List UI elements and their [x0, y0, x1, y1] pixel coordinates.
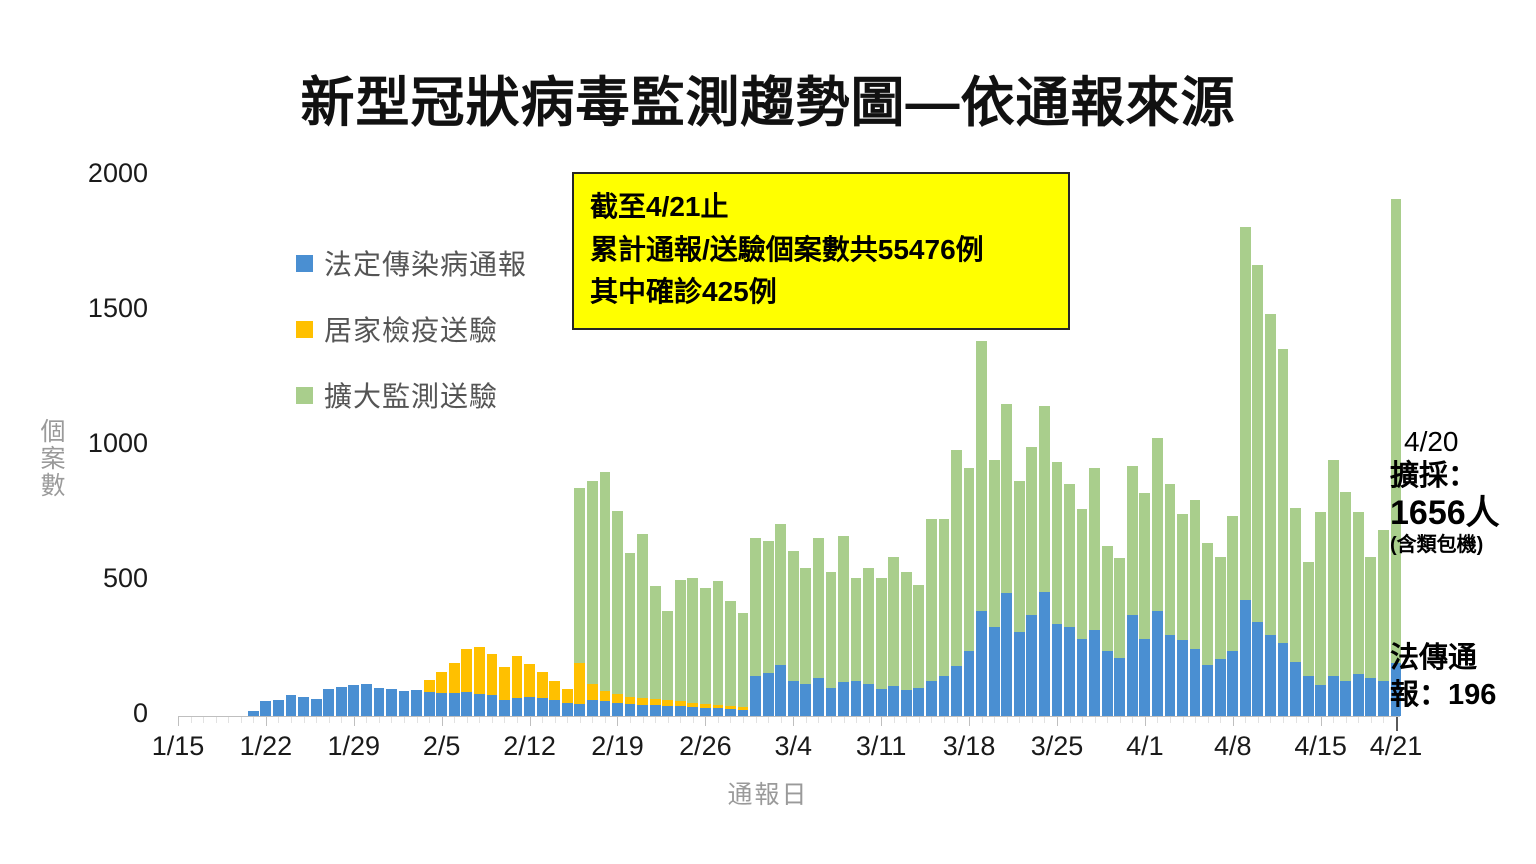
- x-axis-minor-tick: [1032, 717, 1033, 723]
- bar-segment-blue: [399, 691, 410, 716]
- x-axis-minor-tick: [580, 717, 581, 723]
- x-axis-minor-tick: [730, 717, 731, 723]
- bar-stack: [1265, 314, 1276, 716]
- bar-stack: [813, 538, 824, 716]
- bar-segment-green: [888, 557, 899, 687]
- bar-segment-blue: [725, 709, 736, 716]
- bar-segment-yellow: [474, 647, 485, 694]
- bar-stack: [286, 695, 297, 716]
- bar-stack: [348, 685, 359, 716]
- bar-segment-blue: [1353, 674, 1364, 716]
- x-axis-minor-tick: [1220, 717, 1221, 723]
- bar-segment-blue: [913, 688, 924, 716]
- bar-stack: [1127, 466, 1138, 716]
- legend-label-2: 擴大監測送驗: [324, 375, 498, 415]
- y-axis-tick-label: 0: [133, 698, 148, 729]
- bar-stack: [1165, 484, 1176, 716]
- bar-segment-blue: [687, 707, 698, 716]
- bar-segment-green: [725, 601, 736, 706]
- bar-stack: [976, 341, 987, 716]
- x-axis-minor-tick: [454, 717, 455, 723]
- annotation-statutory-reporting: 法傳通報：196: [1390, 640, 1536, 714]
- bar-stack: [537, 672, 548, 716]
- bar-segment-blue: [1014, 632, 1025, 716]
- bar-stack: [1290, 508, 1301, 716]
- bar-segment-green: [1026, 447, 1037, 614]
- x-axis-tick-label: 1/15: [152, 731, 205, 762]
- x-axis-minor-tick: [366, 717, 367, 723]
- bar-stack: [1190, 500, 1201, 716]
- bar-segment-blue: [838, 682, 849, 716]
- bar-segment-green: [650, 586, 661, 699]
- bar-stack: [574, 488, 585, 716]
- x-axis-minor-tick: [291, 717, 292, 723]
- bar-segment-blue: [361, 684, 372, 716]
- bar-stack: [386, 689, 397, 716]
- x-axis-minor-tick: [1371, 717, 1372, 723]
- legend-label-1: 居家檢疫送驗: [324, 309, 498, 349]
- bar-stack: [675, 580, 686, 716]
- bar-segment-blue: [348, 685, 359, 716]
- bar-segment-yellow: [512, 656, 523, 698]
- bar-segment-blue: [1127, 615, 1138, 716]
- bar-segment-green: [1365, 557, 1376, 679]
- bar-segment-green: [1077, 509, 1088, 639]
- x-axis-tick-label: 2/19: [591, 731, 644, 762]
- bar-segment-green: [813, 538, 824, 678]
- bar-stack: [713, 581, 724, 716]
- bar-segment-yellow: [449, 663, 460, 693]
- y-axis-tick-label: 1000: [88, 428, 148, 459]
- bar-segment-green: [976, 341, 987, 611]
- bar-segment-blue: [336, 687, 347, 716]
- x-axis-title: 通報日: [0, 775, 1536, 811]
- x-axis-minor-tick: [278, 717, 279, 723]
- bar-segment-blue: [411, 690, 422, 716]
- bar-stack: [1378, 530, 1389, 716]
- bar-segment-blue: [461, 692, 472, 716]
- bar-stack: [687, 578, 698, 716]
- bar-segment-blue: [1240, 600, 1251, 716]
- bar-stack: [1202, 543, 1213, 716]
- bar-segment-blue: [901, 690, 912, 716]
- bar-segment-blue: [888, 686, 899, 716]
- bar-segment-blue: [562, 703, 573, 717]
- bar-segment-green: [826, 572, 837, 688]
- bar-stack: [1114, 558, 1125, 716]
- x-axis-minor-tick: [329, 717, 330, 723]
- x-axis-minor-tick: [467, 717, 468, 723]
- bar-segment-green: [1202, 543, 1213, 665]
- bar-stack: [474, 647, 485, 716]
- bar-stack: [1215, 557, 1226, 716]
- x-axis-minor-tick: [1095, 717, 1096, 723]
- bar-segment-green: [901, 572, 912, 691]
- bar-stack: [1039, 406, 1050, 717]
- bar-stack: [826, 572, 837, 716]
- bar-stack: [1227, 516, 1238, 716]
- x-axis-line: [178, 716, 1400, 717]
- bar-stack: [600, 472, 611, 716]
- bar-segment-blue: [851, 681, 862, 716]
- bar-segment-green: [775, 524, 786, 664]
- bar-stack: [1240, 227, 1251, 716]
- chart-legend: 法定傳染病通報 居家檢疫送驗 擴大監測送驗: [296, 243, 527, 415]
- bar-stack: [524, 664, 535, 716]
- bar-segment-green: [838, 536, 849, 682]
- bar-segment-green: [1378, 530, 1389, 681]
- bar-stack: [788, 551, 799, 716]
- bar-segment-blue: [1215, 659, 1226, 716]
- bar-segment-green: [1089, 468, 1100, 630]
- x-axis-minor-tick: [630, 717, 631, 723]
- bar-segment-blue: [939, 676, 950, 717]
- bar-stack: [989, 460, 1000, 717]
- x-axis-minor-tick: [1183, 717, 1184, 723]
- bar-stack: [951, 450, 962, 716]
- x-axis-minor-tick: [1383, 717, 1384, 723]
- bar-stack: [1328, 460, 1339, 717]
- x-axis-minor-tick: [680, 717, 681, 723]
- x-axis-minor-tick: [241, 717, 242, 723]
- bar-segment-yellow: [562, 689, 573, 703]
- x-axis-minor-tick: [643, 717, 644, 723]
- x-axis-minor-tick: [1044, 717, 1045, 723]
- x-axis-minor-tick: [1157, 717, 1158, 723]
- x-axis-tick-label: 4/1: [1126, 731, 1164, 762]
- bar-stack: [637, 533, 648, 716]
- x-axis-tick: [969, 717, 970, 726]
- x-axis-minor-tick: [957, 717, 958, 723]
- bar-segment-green: [1190, 500, 1201, 649]
- x-axis-minor-tick: [1208, 717, 1209, 723]
- x-axis-minor-tick: [417, 717, 418, 723]
- x-axis-minor-tick: [567, 717, 568, 723]
- x-axis-minor-tick: [1170, 717, 1171, 723]
- bar-stack: [336, 687, 347, 716]
- bar-segment-blue: [323, 689, 334, 716]
- bar-segment-blue: [1365, 678, 1376, 716]
- bar-segment-green: [574, 488, 585, 664]
- x-axis-minor-tick: [756, 717, 757, 723]
- bar-stack: [549, 681, 560, 716]
- bar-segment-blue: [650, 705, 661, 716]
- bar-stack: [449, 663, 460, 716]
- legend-swatch-icon-2: [296, 387, 313, 404]
- bar-segment-yellow: [436, 672, 447, 694]
- bar-segment-green: [851, 578, 862, 681]
- bar-segment-blue: [487, 695, 498, 716]
- bar-segment-green: [1114, 558, 1125, 658]
- x-axis-tick-label: 2/26: [679, 731, 732, 762]
- x-axis-tick-label: 3/18: [943, 731, 996, 762]
- y-axis-tick-label: 500: [103, 563, 148, 594]
- x-axis-tick-label: 3/11: [856, 731, 907, 762]
- bar-segment-green: [1001, 404, 1012, 593]
- bar-stack: [411, 690, 422, 716]
- bar-stack: [587, 481, 598, 716]
- bar-segment-yellow: [600, 691, 611, 701]
- bar-stack: [725, 601, 736, 716]
- bar-segment-blue: [1177, 640, 1188, 716]
- bar-segment-blue: [1278, 643, 1289, 716]
- bar-segment-green: [637, 534, 648, 699]
- x-axis-minor-tick: [592, 717, 593, 723]
- bar-stack: [436, 672, 447, 716]
- bar-stack: [461, 649, 472, 716]
- x-axis-minor-tick: [605, 717, 606, 723]
- bar-stack: [374, 688, 385, 716]
- bar-segment-yellow: [574, 663, 585, 704]
- bar-segment-blue: [260, 701, 271, 716]
- x-axis-minor-tick: [856, 717, 857, 723]
- x-axis-minor-tick: [1258, 717, 1259, 723]
- bar-stack: [361, 684, 372, 716]
- callout-line-2: 累計通報/送驗個案數共55476例: [590, 229, 1052, 272]
- bar-segment-yellow: [499, 667, 510, 699]
- x-axis-minor-tick: [203, 717, 204, 723]
- bar-segment-green: [713, 581, 724, 705]
- bar-stack: [1278, 349, 1289, 716]
- x-axis-tick-label: 3/25: [1031, 731, 1084, 762]
- bar-segment-blue: [964, 651, 975, 716]
- x-axis-minor-tick: [1070, 717, 1071, 723]
- bar-segment-blue: [474, 694, 485, 716]
- bar-segment-yellow: [549, 681, 560, 700]
- bar-stack: [612, 511, 623, 716]
- bar-stack: [1340, 492, 1351, 716]
- x-axis-tick: [1145, 717, 1146, 726]
- x-axis-minor-tick: [1195, 717, 1196, 723]
- bar-segment-green: [1152, 438, 1163, 611]
- bar-segment-yellow: [625, 697, 636, 704]
- bar-segment-blue: [1001, 593, 1012, 716]
- bar-stack: [650, 586, 661, 716]
- bar-segment-blue: [1114, 658, 1125, 716]
- annotation-bottom-text: 法傳通報：196: [1390, 640, 1530, 714]
- x-axis-minor-tick: [844, 717, 845, 723]
- bar-stack: [876, 578, 887, 716]
- bar-segment-blue: [1165, 635, 1176, 716]
- bar-segment-blue: [775, 665, 786, 716]
- x-axis-minor-tick: [492, 717, 493, 723]
- x-axis-minor-tick: [768, 717, 769, 723]
- bar-segment-green: [1315, 512, 1326, 685]
- bar-segment-blue: [763, 673, 774, 716]
- x-axis-tick: [1321, 717, 1322, 726]
- bar-segment-blue: [813, 678, 824, 716]
- bar-segment-yellow: [487, 654, 498, 695]
- bar-segment-blue: [1064, 627, 1075, 716]
- bar-stack: [738, 613, 749, 716]
- callout-line-1: 截至4/21止: [590, 186, 1052, 229]
- bar-stack: [888, 557, 899, 716]
- bar-stack: [625, 553, 636, 716]
- bar-stack: [1089, 468, 1100, 716]
- bar-segment-green: [662, 611, 673, 700]
- x-axis-minor-tick: [718, 717, 719, 723]
- bar-segment-green: [1139, 493, 1150, 639]
- bar-segment-blue: [449, 693, 460, 716]
- legend-item-2[interactable]: 擴大監測送驗: [296, 375, 527, 415]
- x-axis-minor-tick: [517, 717, 518, 723]
- bar-stack: [1365, 557, 1376, 716]
- x-axis-minor-tick: [818, 717, 819, 723]
- bar-segment-blue: [876, 689, 887, 716]
- bar-segment-green: [926, 519, 937, 681]
- x-axis-tick: [178, 717, 179, 726]
- legend-swatch-icon-1: [296, 321, 313, 338]
- x-axis-minor-tick: [429, 717, 430, 723]
- x-axis-minor-tick: [341, 717, 342, 723]
- bar-segment-green: [989, 460, 1000, 627]
- x-axis-minor-tick: [228, 717, 229, 723]
- x-axis-minor-tick: [781, 717, 782, 723]
- x-axis-minor-tick: [806, 717, 807, 723]
- bar-segment-green: [863, 568, 874, 684]
- x-axis-tick-label: 4/8: [1214, 731, 1252, 762]
- bar-segment-green: [1353, 512, 1364, 674]
- x-axis-minor-tick: [919, 717, 920, 723]
- bar-segment-green: [913, 585, 924, 688]
- bar-segment-green: [951, 450, 962, 666]
- legend-item-1[interactable]: 居家檢疫送驗: [296, 309, 527, 349]
- x-axis-minor-tick: [743, 717, 744, 723]
- bar-segment-yellow: [424, 680, 435, 692]
- bar-stack: [1315, 512, 1326, 716]
- bar-segment-green: [939, 519, 950, 676]
- bar-segment-green: [788, 551, 799, 681]
- bar-segment-yellow: [587, 684, 598, 700]
- bar-segment-yellow: [537, 672, 548, 698]
- annotation-expanded-testing: 4/20 擴採： 1656人 (含類包機): [1390, 424, 1536, 557]
- x-axis-tick: [617, 717, 618, 726]
- bar-stack: [851, 578, 862, 716]
- x-axis-tick-label: 2/5: [423, 731, 461, 762]
- bar-segment-green: [700, 588, 711, 704]
- bar-stack: [1252, 265, 1263, 716]
- bar-segment-green: [1252, 265, 1263, 621]
- bar-segment-blue: [386, 689, 397, 716]
- bar-segment-blue: [625, 704, 636, 716]
- y-axis-title: 個案數: [38, 418, 63, 499]
- x-axis-minor-tick: [555, 717, 556, 723]
- bar-segment-blue: [1303, 676, 1314, 717]
- x-axis-tick: [1396, 717, 1398, 731]
- x-axis-tick-label: 1/29: [328, 731, 381, 762]
- bar-stack: [487, 654, 498, 716]
- bar-stack: [763, 541, 774, 717]
- x-axis-minor-tick: [1245, 717, 1246, 723]
- bar-segment-green: [1240, 227, 1251, 600]
- legend-item-0[interactable]: 法定傳染病通報: [296, 243, 527, 283]
- bar-stack: [499, 667, 510, 716]
- bar-segment-blue: [951, 666, 962, 716]
- x-axis-minor-tick: [1308, 717, 1309, 723]
- x-axis-minor-tick: [1007, 717, 1008, 723]
- bar-stack: [926, 519, 937, 716]
- bar-segment-blue: [1102, 651, 1113, 716]
- bar-segment-blue: [549, 700, 560, 716]
- x-axis-tick-label: 1/22: [240, 731, 293, 762]
- bar-segment-blue: [788, 681, 799, 716]
- x-axis-minor-tick: [379, 717, 380, 723]
- bar-segment-blue: [800, 684, 811, 716]
- x-axis-minor-tick: [994, 717, 995, 723]
- y-axis-tick-label: 1500: [88, 293, 148, 324]
- bar-segment-green: [964, 468, 975, 652]
- x-axis-tick: [881, 717, 882, 726]
- bar-segment-yellow: [612, 694, 623, 702]
- bar-segment-blue: [1252, 622, 1263, 717]
- bar-segment-green: [800, 568, 811, 684]
- bar-stack: [838, 536, 849, 716]
- bar-segment-green: [1303, 562, 1314, 675]
- x-axis-tick-label: 3/4: [774, 731, 812, 762]
- x-axis-minor-tick: [391, 717, 392, 723]
- bar-segment-blue: [926, 681, 937, 716]
- x-axis-minor-tick: [1296, 717, 1297, 723]
- bar-segment-blue: [286, 695, 297, 716]
- bar-stack: [662, 611, 673, 716]
- bar-segment-blue: [700, 708, 711, 716]
- bar-segment-blue: [524, 697, 535, 716]
- bar-segment-blue: [1202, 665, 1213, 716]
- bar-stack: [913, 585, 924, 716]
- bar-stack: [1001, 404, 1012, 716]
- x-axis-tick: [266, 717, 267, 726]
- bar-stack: [311, 699, 322, 716]
- x-axis-minor-tick: [1120, 717, 1121, 723]
- bar-stack: [424, 680, 435, 716]
- legend-swatch-icon-0: [296, 255, 313, 272]
- bar-stack: [260, 701, 271, 716]
- bar-segment-blue: [662, 706, 673, 716]
- bar-segment-blue: [1265, 635, 1276, 716]
- bar-segment-blue: [574, 704, 585, 716]
- bar-segment-green: [587, 481, 598, 684]
- bar-segment-blue: [637, 705, 648, 716]
- bar-stack: [1052, 462, 1063, 716]
- bar-segment-blue: [1227, 651, 1238, 716]
- bar-segment-green: [1165, 484, 1176, 635]
- bar-segment-green: [738, 613, 749, 708]
- annotation-note: (含類包機): [1390, 533, 1508, 557]
- bar-segment-green: [1177, 514, 1188, 641]
- bar-segment-blue: [424, 692, 435, 716]
- bar-segment-green: [1290, 508, 1301, 662]
- bar-segment-green: [1328, 460, 1339, 676]
- bar-segment-green: [687, 578, 698, 702]
- bar-stack: [1077, 509, 1088, 716]
- bar-segment-green: [1014, 481, 1025, 632]
- x-axis-minor-tick: [504, 717, 505, 723]
- bar-stack: [273, 700, 284, 716]
- bar-segment-blue: [374, 688, 385, 716]
- bar-stack: [1064, 484, 1075, 716]
- bar-segment-green: [1102, 546, 1113, 651]
- bar-stack: [939, 519, 950, 716]
- bar-segment-green: [1265, 314, 1276, 635]
- x-axis-minor-tick: [869, 717, 870, 723]
- x-axis-minor-tick: [693, 717, 694, 723]
- x-axis-minor-tick: [1019, 717, 1020, 723]
- callout-line-3: 其中確診425例: [590, 271, 1052, 314]
- bar-segment-blue: [499, 700, 510, 716]
- x-axis-tick: [793, 717, 794, 726]
- bar-segment-blue: [298, 697, 309, 716]
- bar-stack: [1152, 438, 1163, 716]
